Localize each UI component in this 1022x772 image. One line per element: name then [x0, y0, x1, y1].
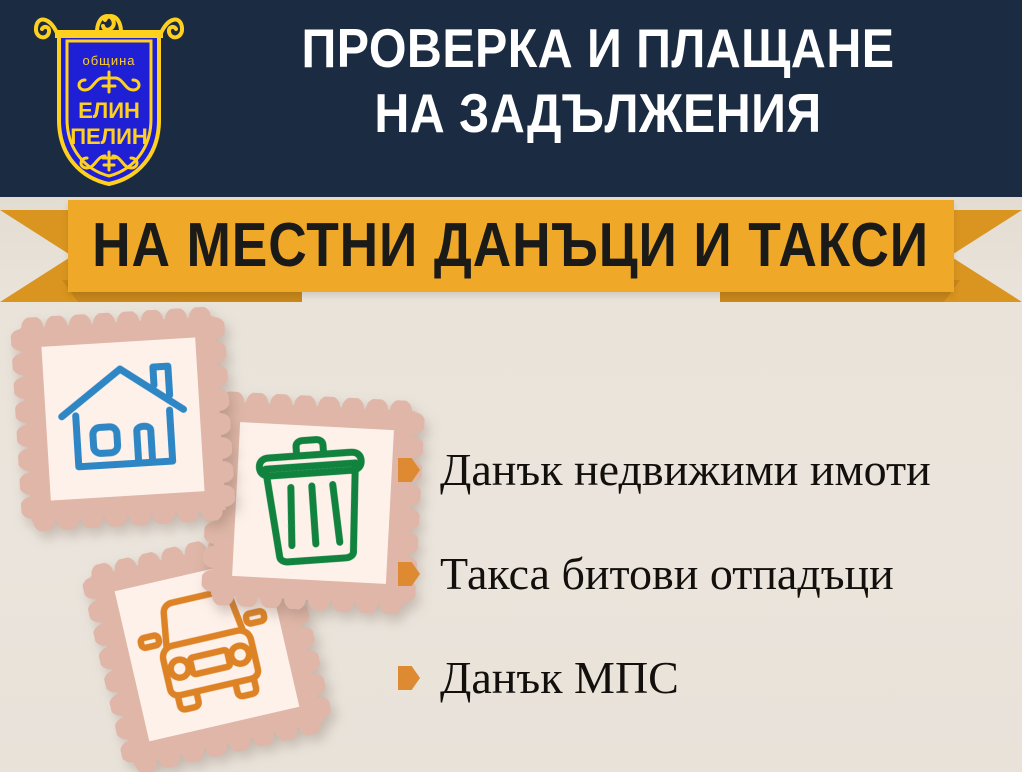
- stamp-card-property: [10, 306, 237, 533]
- list-item[interactable]: Такса битови отпадъци: [398, 522, 1008, 626]
- arrow-bullet-icon: [398, 458, 420, 482]
- ribbon-band: НА МЕСТНИ ДАНЪЦИ И ТАКСИ: [68, 200, 954, 292]
- poster-canvas: община ЕЛИН ПЕЛИН ПРОВЕРКА И ПЛ: [0, 0, 1022, 772]
- ribbon-banner: НА МЕСТНИ ДАНЪЦИ И ТАКСИ: [0, 196, 1022, 316]
- list-item[interactable]: Данък МПС: [398, 626, 1008, 730]
- service-list: Данък недвижими имоти Такса битови отпад…: [398, 418, 1008, 730]
- header-bar: община ЕЛИН ПЕЛИН ПРОВЕРКА И ПЛ: [0, 0, 1022, 197]
- arrow-bullet-icon: [398, 666, 420, 690]
- page-title-line-1: ПРОВЕРКА И ПЛАЩАНЕ: [235, 16, 960, 81]
- page-title-line-2: НА ЗАДЪЛЖЕНИЯ: [235, 81, 960, 146]
- page-title: ПРОВЕРКА И ПЛАЩАНЕ НА ЗАДЪЛЖЕНИЯ: [235, 16, 960, 147]
- svg-text:ЕЛИН: ЕЛИН: [78, 98, 140, 123]
- svg-text:община: община: [82, 53, 135, 68]
- service-label: Данък МПС: [440, 655, 679, 701]
- list-item[interactable]: Данък недвижими имоти: [398, 418, 1008, 522]
- ribbon-label: НА МЕСТНИ ДАНЪЦИ И ТАКСИ: [93, 215, 930, 277]
- service-label: Данък недвижими имоти: [440, 447, 931, 493]
- coat-of-arms-icon: община ЕЛИН ПЕЛИН: [33, 8, 185, 190]
- svg-text:ПЕЛИН: ПЕЛИН: [70, 124, 148, 149]
- service-label: Такса битови отпадъци: [440, 551, 894, 597]
- arrow-bullet-icon: [398, 562, 420, 586]
